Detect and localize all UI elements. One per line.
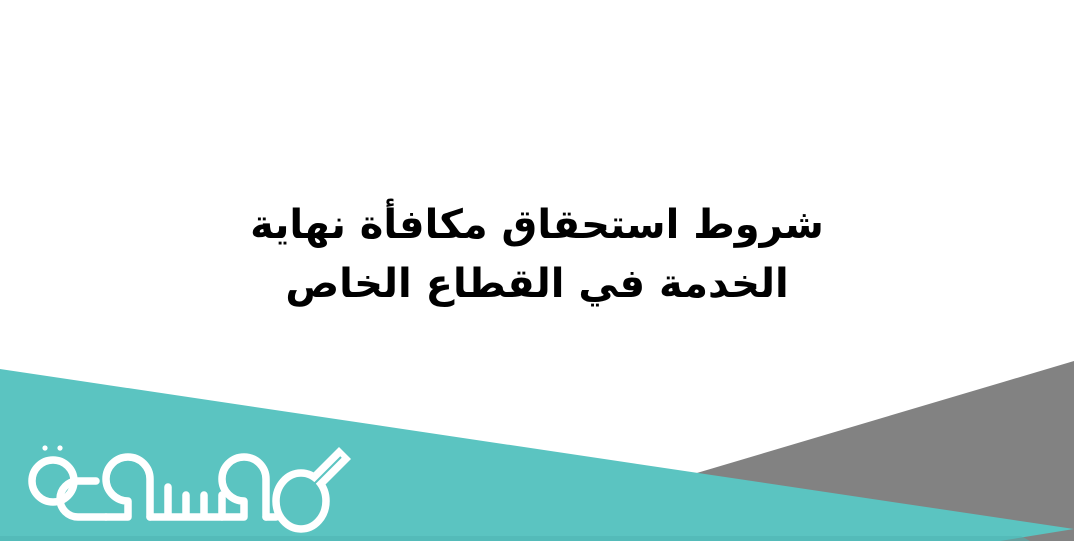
logo-taa-dot-left [42,445,47,450]
logo-taa-dot-right [57,445,62,450]
magnifier-lens-icon [276,473,326,529]
logo-wordmark [8,439,358,535]
logo-letter-seen [150,487,222,517]
teal-bottom-hairline [0,536,1030,541]
mawsoua-logo[interactable]: موسوعة [8,439,358,535]
logo-letter-waw-2 [106,457,150,517]
logo-letter-waw [222,457,266,517]
slide-canvas: شروط استحقاق مكافأة نهاية الخدمة في القط… [0,0,1074,541]
